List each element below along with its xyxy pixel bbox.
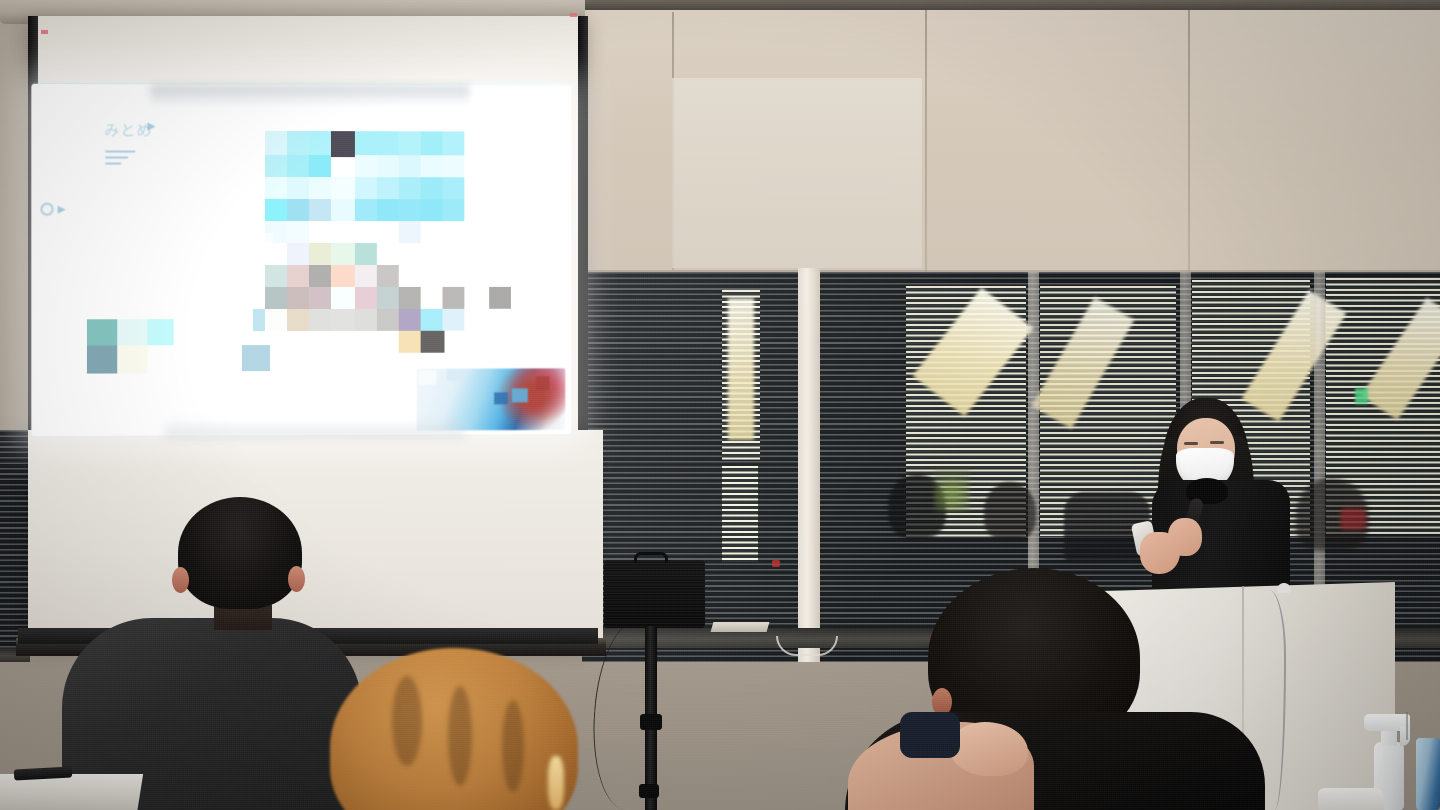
mosaic-block (421, 131, 443, 155)
mosaic-block (117, 319, 147, 345)
mosaic-block (253, 309, 265, 331)
tissue-white (1318, 788, 1384, 810)
blue-bottle (1416, 738, 1440, 810)
mosaic-block (287, 309, 309, 331)
whiteboard (28, 430, 603, 645)
mosaic-block (287, 155, 309, 177)
mosaic-block (309, 265, 331, 287)
audience-member-collar (900, 712, 960, 758)
mosaic-block (355, 131, 377, 155)
screen-red-mark (41, 30, 48, 34)
mosaic-block (399, 287, 421, 309)
mosaic-block (265, 287, 287, 309)
mosaic-block (489, 287, 511, 309)
mosaic-block (399, 131, 421, 155)
mosaic-block (331, 243, 355, 265)
mosaic-block (443, 309, 465, 331)
mosaic-block (377, 287, 399, 309)
mosaic-block (309, 199, 331, 221)
hair-strand (392, 676, 422, 766)
background-red-object (1340, 508, 1366, 530)
projection-haze-bottom (165, 420, 465, 438)
presenter-brow (1184, 442, 1198, 445)
photo-mosaic-block (512, 388, 528, 402)
mosaic-block (399, 199, 421, 221)
mosaic-block (265, 265, 287, 287)
ceiling-rail (582, 0, 1440, 10)
mosaic-block (331, 131, 355, 157)
audience-member-ear (288, 566, 305, 592)
photo-mosaic-block (419, 371, 437, 385)
hair-strand (448, 686, 472, 786)
mosaic-block (355, 177, 377, 199)
mosaic-block (421, 155, 443, 177)
mosaic-block (287, 199, 309, 221)
mosaic-block (309, 155, 331, 177)
mosaic-block (331, 309, 355, 331)
background-person-silhouette (984, 482, 1036, 540)
mosaic-block (309, 177, 331, 199)
mosaic-block (287, 177, 309, 199)
mosaic-block (421, 199, 443, 221)
mosaic-block (377, 131, 399, 155)
mosaic-block (355, 243, 377, 265)
presenter-brow (1210, 441, 1224, 444)
screen-red-mark (570, 13, 577, 17)
mosaic-block (421, 309, 443, 331)
wall-panel-seam (925, 10, 927, 272)
mosaic-block (309, 243, 331, 265)
mosaic-block (377, 265, 399, 287)
projected-slide: みとめ (31, 84, 571, 436)
sill-red-indicator (772, 560, 780, 567)
mosaic-block (287, 265, 309, 287)
mosaic-block (87, 319, 117, 345)
wall-panel-seam (1188, 8, 1190, 272)
exit-sign-icon (1355, 388, 1368, 404)
pa-speaker-handle (634, 552, 668, 563)
mosaic-block (147, 319, 173, 345)
photo-mosaic-block (494, 392, 508, 404)
mosaic-block (377, 199, 399, 221)
mosaic-block (399, 221, 421, 243)
mosaic-block (377, 309, 399, 331)
mosaic-block (265, 131, 287, 155)
mosaic-block (399, 309, 421, 331)
mosaic-block (287, 287, 309, 309)
mosaic-block (287, 221, 309, 243)
mosaic-block (309, 287, 331, 309)
presentation-room-photo: みとめ (0, 0, 1440, 810)
mosaic-block (443, 199, 465, 221)
mosaic-block (421, 177, 443, 199)
mosaic-block (331, 177, 355, 199)
spray-bottle-nozzle (1406, 712, 1408, 740)
mosaic-block (377, 177, 399, 199)
mosaic-block (117, 345, 147, 373)
podium-knob (1277, 583, 1291, 593)
mosaic-block (355, 287, 377, 309)
mosaic-block (265, 177, 287, 199)
mosaic-block (87, 345, 117, 373)
audience-member-head (178, 497, 302, 609)
mosaic-block (331, 157, 355, 177)
presenter-hand-phone (1140, 532, 1180, 574)
mosaic-block (265, 233, 273, 243)
photo-mosaic-block (536, 376, 550, 390)
mosaic-block (265, 199, 287, 221)
mosaic-block (443, 131, 465, 155)
mosaic-block (331, 199, 355, 221)
mosaic-block (287, 243, 309, 265)
mosaic-block (331, 265, 355, 287)
mosaic-block (377, 155, 399, 177)
fluorescent-light-icon (728, 298, 754, 440)
mosaic-block (242, 345, 270, 371)
window-blinds-left-edge (0, 430, 28, 658)
mosaic-block (443, 287, 465, 309)
mosaic-block (265, 309, 287, 331)
mosaic-block (265, 155, 287, 177)
mosaic-block (399, 177, 421, 199)
mosaic-block (421, 331, 445, 353)
mosaic-block (355, 199, 377, 221)
mosaic-block (309, 131, 331, 155)
photo-mosaic-block (446, 369, 464, 381)
window-mullion (798, 268, 820, 662)
mosaic-block (287, 131, 309, 155)
projection-haze-top (150, 85, 470, 107)
mosaic-block (331, 287, 355, 309)
wall-panel-light (672, 78, 922, 268)
mosaic-block (443, 155, 465, 177)
pa-speaker (604, 560, 705, 628)
mosaic-block (355, 155, 377, 177)
window-pane-lit (722, 466, 758, 562)
background-plant-icon (934, 468, 970, 512)
mosaic-block (399, 155, 421, 177)
mosaic-block (355, 309, 377, 331)
hair-highlight (548, 756, 564, 810)
mosaic-block (399, 331, 421, 353)
mosaic-block (443, 177, 465, 199)
mosaic-block (309, 309, 331, 331)
audience-member-ear (172, 567, 189, 593)
mosaic-block (355, 265, 377, 287)
hair-strand (502, 700, 524, 792)
sill-paper (711, 622, 770, 632)
